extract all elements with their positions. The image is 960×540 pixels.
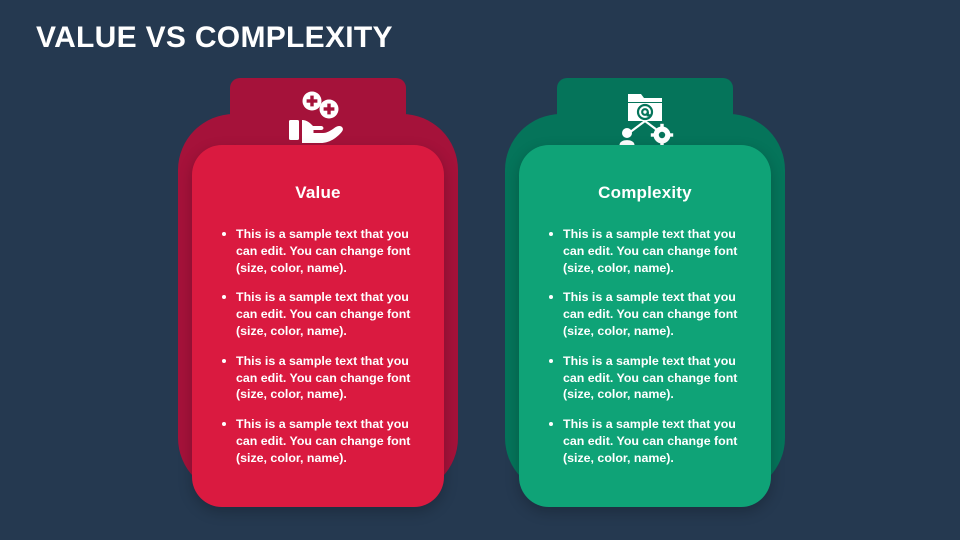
slide-canvas: VALUE VS COMPLEXITY Value: [0, 0, 960, 540]
bullet-dot-icon: [222, 295, 226, 299]
bullet-dot-icon: [549, 232, 553, 236]
card-heading-value: Value: [206, 145, 430, 203]
card-body-value: Value This is a sample text that you can…: [192, 145, 444, 507]
bullet-dot-icon: [549, 295, 553, 299]
list-item: This is a sample text that you can edit.…: [222, 289, 430, 339]
list-item-text: This is a sample text that you can edit.…: [563, 417, 737, 465]
page-title: VALUE VS COMPLEXITY: [36, 18, 393, 58]
list-item-text: This is a sample text that you can edit.…: [563, 354, 737, 402]
list-item-text: This is a sample text that you can edit.…: [236, 417, 410, 465]
bullet-dot-icon: [222, 359, 226, 363]
list-item: This is a sample text that you can edit.…: [549, 289, 757, 339]
bullet-dot-icon: [222, 422, 226, 426]
list-item-text: This is a sample text that you can edit.…: [236, 354, 410, 402]
list-item: This is a sample text that you can edit.…: [222, 353, 430, 403]
bullet-dot-icon: [549, 359, 553, 363]
bullet-dot-icon: [222, 232, 226, 236]
hand-holding-plus-coins-icon: [287, 90, 349, 148]
list-item-text: This is a sample text that you can edit.…: [236, 290, 410, 338]
list-item: This is a sample text that you can edit.…: [222, 226, 430, 276]
list-item-text: This is a sample text that you can edit.…: [563, 227, 737, 275]
bullet-dot-icon: [549, 422, 553, 426]
list-item: This is a sample text that you can edit.…: [549, 353, 757, 403]
list-item: This is a sample text that you can edit.…: [549, 226, 757, 276]
list-item: This is a sample text that you can edit.…: [222, 416, 430, 466]
bullet-list-complexity: This is a sample text that you can edit.…: [533, 203, 757, 467]
list-item-text: This is a sample text that you can edit.…: [236, 227, 410, 275]
card-body-complexity: Complexity This is a sample text that yo…: [519, 145, 771, 507]
list-item: This is a sample text that you can edit.…: [549, 416, 757, 466]
card-heading-complexity: Complexity: [533, 145, 757, 203]
bullet-list-value: This is a sample text that you can edit.…: [206, 203, 430, 467]
network-folder-at-user-gear-icon: [614, 90, 676, 148]
list-item-text: This is a sample text that you can edit.…: [563, 290, 737, 338]
